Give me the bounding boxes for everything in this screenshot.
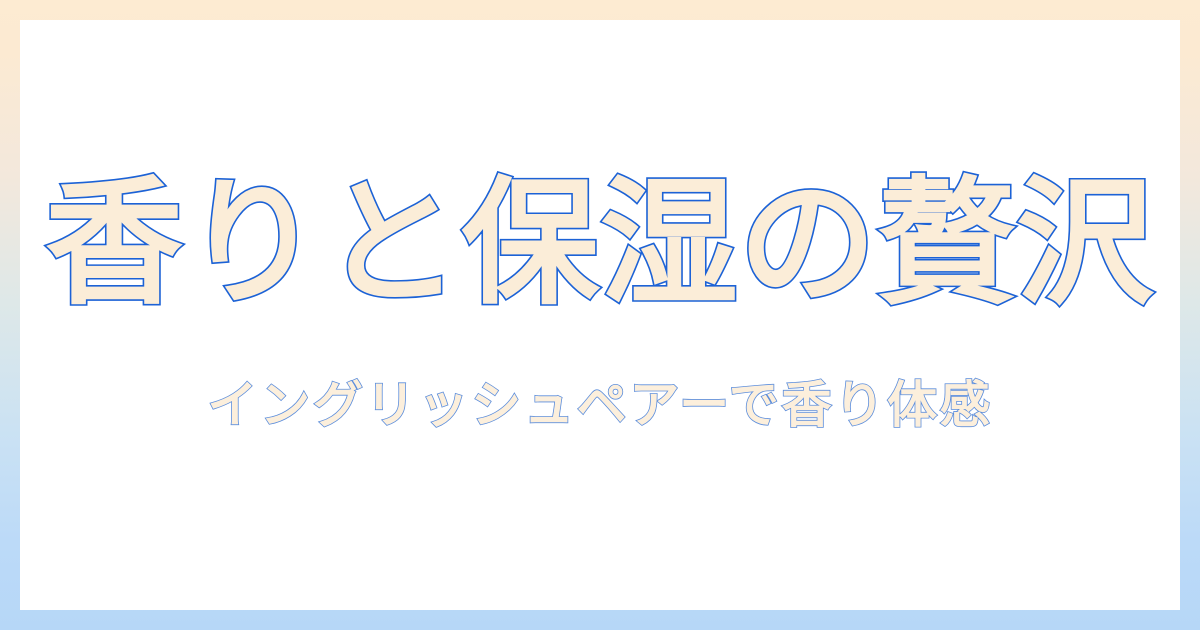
banner-subtitle: イングリッシュペアーで香り体感 bbox=[20, 325, 1180, 435]
banner-card: 香りと保湿の贅沢 イングリッシュペアーで香り体感 bbox=[20, 20, 1180, 610]
banner-headline: 香りと保湿の贅沢 bbox=[20, 169, 1180, 324]
promo-banner: 香りと保湿の贅沢 イングリッシュペアーで香り体感 bbox=[0, 0, 1200, 630]
banner-text-stack: 香りと保湿の贅沢 イングリッシュペアーで香り体感 bbox=[20, 169, 1180, 434]
